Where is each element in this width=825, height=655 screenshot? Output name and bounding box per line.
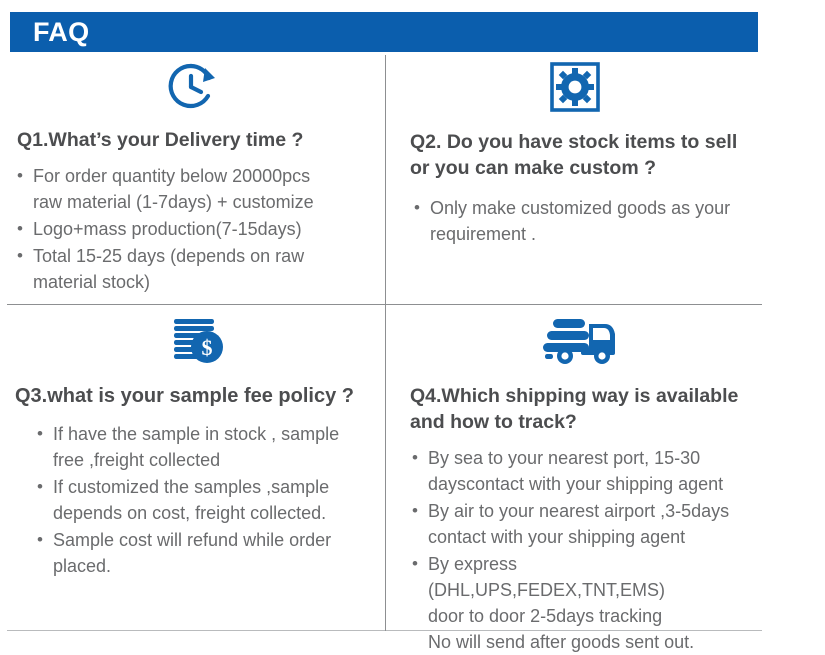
faq-answers-q4: By sea to your nearest port, 15-30 daysc… <box>410 445 750 655</box>
faq-icon-q4-wrap <box>410 305 750 371</box>
faq-icon-q3-wrap: $ <box>15 305 379 371</box>
coins-dollar-icon: $ <box>166 314 228 371</box>
faq-icon-q1-wrap <box>17 55 367 117</box>
list-item: Only make customized goods as your requi… <box>414 195 740 247</box>
gear-in-square-icon <box>550 62 600 117</box>
list-item: If customized the samples ,sample depend… <box>37 474 379 526</box>
faq-panel-q4: Q4.Which shipping way is available and h… <box>386 305 762 630</box>
list-item: Sample cost will refund while order plac… <box>37 527 379 579</box>
faq-panel-q3: $ Q3.what is your sample fee policy ? If… <box>7 305 385 630</box>
list-item: By sea to your nearest port, 15-30 daysc… <box>412 445 750 497</box>
faq-answers-q1: For order quantity below 20000pcs raw ma… <box>17 163 367 295</box>
svg-text:$: $ <box>202 335 213 360</box>
faq-question-q4: Q4.Which shipping way is available and h… <box>410 383 750 435</box>
faq-answers-q2: Only make customized goods as your requi… <box>410 195 740 247</box>
faq-question-q3: Q3.what is your sample fee policy ? <box>15 383 379 409</box>
faq-answers-q3: If have the sample in stock , sample fre… <box>15 421 379 579</box>
faq-panel-q1: Q1.What’s your Delivery time ? For order… <box>7 55 385 304</box>
faq-page: FAQ Q1.What’s your Delivery time ? <box>0 0 825 642</box>
page-title: FAQ <box>33 18 89 46</box>
delivery-truck-icon <box>539 314 621 371</box>
list-item: By express (DHL,UPS,FEDEX,TNT,EMS) door … <box>412 551 750 655</box>
faq-panel-q2: Q2. Do you have stock items to sell or y… <box>386 55 762 304</box>
faq-question-q2: Q2. Do you have stock items to sell or y… <box>410 129 740 181</box>
list-item: If have the sample in stock , sample fre… <box>37 421 379 473</box>
clock-refresh-icon <box>161 60 223 117</box>
faq-icon-q2-wrap <box>410 55 740 117</box>
faq-question-q1: Q1.What’s your Delivery time ? <box>17 127 367 153</box>
faq-header-bar: FAQ <box>10 12 758 52</box>
list-item: Total 15-25 days (depends on raw materia… <box>17 243 367 295</box>
list-item: Logo+mass production(7-15days) <box>17 216 367 242</box>
list-item: By air to your nearest airport ,3-5days … <box>412 498 750 550</box>
faq-grid: Q1.What’s your Delivery time ? For order… <box>7 55 762 631</box>
list-item: For order quantity below 20000pcs raw ma… <box>17 163 367 215</box>
